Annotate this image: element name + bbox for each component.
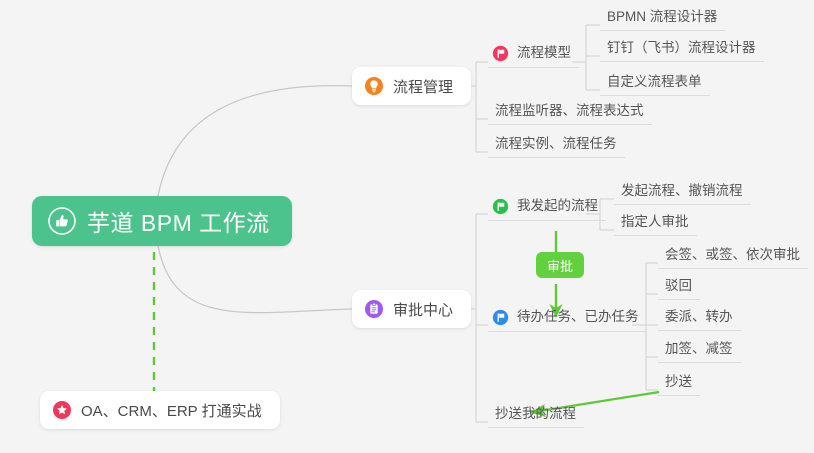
leaf-label-start-cancel-process: 发起流程、撤销流程 — [621, 183, 743, 199]
badge-approval[interactable]: 审批 — [536, 252, 584, 278]
leaf-node-reject[interactable]: 驳回 — [658, 276, 700, 300]
mindmap-canvas: 芋道 BPM 工作流 流程管理 审批中心 — [0, 0, 814, 453]
leaf-node-assignee-approval[interactable]: 指定人审批 — [614, 212, 697, 236]
leaf-node-process-model[interactable]: 流程模型 — [488, 43, 579, 68]
leaf-node-delegate-transfer[interactable]: 委派、转办 — [658, 307, 741, 331]
leaf-label-process-model: 流程模型 — [517, 45, 571, 61]
flag-icon-green — [492, 198, 509, 215]
star-icon — [52, 400, 72, 420]
leaf-label-process-listener-expression: 流程监听器、流程表达式 — [495, 103, 644, 119]
leaf-label-dingtalk-feishu-designer: 钉钉（飞书）流程设计器 — [607, 40, 756, 56]
leaf-label-assignee-approval: 指定人审批 — [621, 214, 689, 230]
leaf-label-delegate-transfer: 委派、转办 — [665, 309, 733, 325]
branch-label-approval-center: 审批中心 — [393, 299, 453, 320]
leaf-node-my-initiated-process[interactable]: 我发起的流程 — [488, 196, 606, 221]
leaf-label-custom-process-form: 自定义流程表单 — [607, 74, 702, 90]
leaf-label-add-remove-sign: 加签、减签 — [665, 341, 733, 357]
leaf-node-todo-done-tasks[interactable]: 待办任务、已办任务 — [488, 307, 647, 332]
clipboard-icon — [364, 299, 384, 319]
leaf-node-start-cancel-process[interactable]: 发起流程、撤销流程 — [614, 181, 751, 205]
leaf-label-cc-to-me-process: 抄送我的流程 — [495, 406, 576, 422]
branch-node-approval-center[interactable]: 审批中心 — [352, 290, 471, 328]
flag-icon-blue — [492, 309, 509, 326]
root-node[interactable]: 芋道 BPM 工作流 — [32, 196, 292, 246]
wire-root-to-process-management — [158, 86, 352, 196]
leaf-label-carbon-copy: 抄送 — [665, 374, 692, 390]
leaf-node-add-remove-sign[interactable]: 加签、减签 — [658, 339, 741, 363]
leaf-label-countersign-orsign-sequential: 会签、或签、依次审批 — [665, 247, 800, 263]
thumbs-up-icon — [48, 207, 76, 235]
leaf-label-todo-done-tasks: 待办任务、已办任务 — [517, 309, 639, 325]
leaf-label-reject: 驳回 — [665, 278, 692, 294]
leaf-node-countersign-orsign-sequential[interactable]: 会签、或签、依次审批 — [658, 245, 808, 269]
wire-root-to-approval-center — [158, 246, 352, 313]
leaf-label-my-initiated-process: 我发起的流程 — [517, 198, 598, 214]
leaf-label-process-instance-task: 流程实例、流程任务 — [495, 136, 617, 152]
branch-node-process-management[interactable]: 流程管理 — [352, 67, 471, 105]
leaf-node-carbon-copy[interactable]: 抄送 — [658, 372, 700, 396]
leaf-node-process-listener-expression[interactable]: 流程监听器、流程表达式 — [488, 101, 652, 125]
lightbulb-icon — [364, 76, 384, 96]
leaf-node-bpmn-designer[interactable]: BPMN 流程设计器 — [600, 7, 725, 31]
leaf-node-process-instance-task[interactable]: 流程实例、流程任务 — [488, 134, 625, 158]
leaf-label-bpmn-designer: BPMN 流程设计器 — [607, 9, 717, 25]
free-node-label: OA、CRM、ERP 打通实战 — [81, 400, 262, 421]
flag-icon-red — [492, 45, 509, 62]
branch-label-process-management: 流程管理 — [393, 76, 453, 97]
badge-approval-label: 审批 — [547, 256, 573, 275]
root-label: 芋道 BPM 工作流 — [87, 204, 270, 238]
leaf-node-cc-to-me-process[interactable]: 抄送我的流程 — [488, 404, 584, 428]
leaf-node-custom-process-form[interactable]: 自定义流程表单 — [600, 72, 710, 96]
free-node-integration[interactable]: OA、CRM、ERP 打通实战 — [40, 391, 280, 429]
leaf-node-dingtalk-feishu-designer[interactable]: 钉钉（飞书）流程设计器 — [600, 38, 764, 62]
